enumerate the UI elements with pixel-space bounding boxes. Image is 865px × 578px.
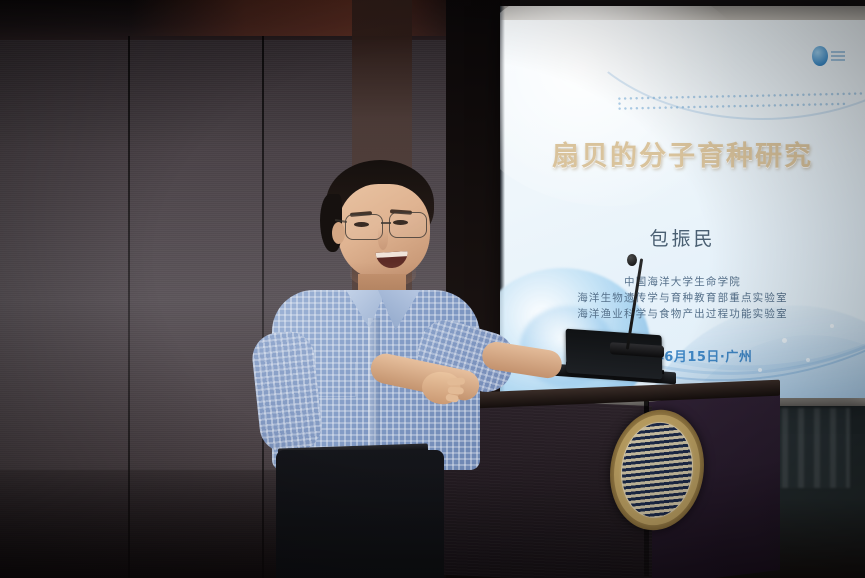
presenter [250,150,510,578]
glasses-lens-right [389,212,427,238]
affiliation-line-1: 中国海洋大学生命学院 [500,274,865,290]
affiliation-line-2: 海洋生物遗传学与育种教育部重点实验室 [500,290,865,306]
slide-mini-dot [830,324,834,328]
presenter-nose [378,228,388,250]
projection-screen: ••••••••••••••••••••••••••••••••••••••••… [500,6,865,398]
emblem-ring [614,410,700,529]
logo-wordmark [831,51,845,61]
glasses-icon [343,212,437,238]
presenter-trousers [276,450,444,578]
presentation-photo-scene: ••••••••••••••••••••••••••••••••••••••••… [0,0,865,578]
glasses-bridge [381,222,391,224]
slide-title: 扇贝的分子育种研究 [500,134,865,173]
presenter-finger [447,377,465,385]
slide-author: 包振民 [500,224,865,251]
affiliation-line-3: 海洋渔业科学与食物产出过程功能实验室 [500,306,865,322]
institution-logo [812,46,845,66]
logo-globe-icon [812,46,828,66]
shirt-pocket [314,362,356,397]
presenter-finger [445,393,459,403]
microphone-capsule-icon [627,254,637,266]
slide-mini-dot [758,368,762,372]
dot-row-2: •••••••••••••••••••••••••••••••••••••••• [618,101,865,111]
slide-mini-dot [782,338,787,343]
slide-affiliations: 中国海洋大学生命学院 海洋生物遗传学与育种教育部重点实验室 海洋渔业科学与食物产… [500,274,865,322]
